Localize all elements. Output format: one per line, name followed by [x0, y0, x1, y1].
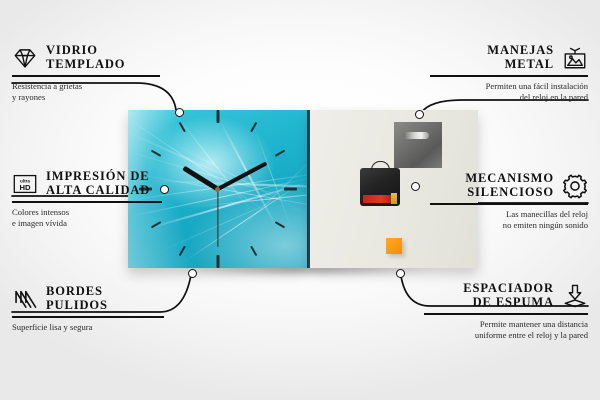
feature-manejas-metal: MANEJAS METAL Permiten una fácil instala…	[430, 44, 588, 103]
connector-dot-espaciador	[396, 269, 405, 278]
feature-subtitle: Permiten una fácil instalación del reloj…	[430, 81, 588, 103]
clock-tick	[150, 150, 161, 157]
hand-cap	[215, 187, 220, 192]
clock-tick	[274, 150, 285, 157]
second-hand	[217, 189, 218, 247]
clock-tick	[274, 221, 285, 228]
divider	[12, 75, 160, 77]
clock-tick	[178, 122, 185, 133]
feature-subtitle: Permite mantener una distancia uniforme …	[424, 319, 588, 341]
feature-title: MECANISMO SILENCIOSO	[465, 172, 554, 199]
divider	[12, 201, 162, 203]
foam-spacer	[386, 238, 402, 254]
connector-dot-manejas	[415, 110, 424, 119]
hanger-loop	[371, 161, 390, 171]
connector-dot-mecanismo	[411, 182, 420, 191]
feature-title: BORDES PULIDOS	[46, 285, 108, 312]
quartz-mechanism	[360, 168, 400, 206]
clock-tick	[216, 110, 219, 123]
feature-vidrio-templado: VIDRIO TEMPLADO Resistencia a grietas y …	[12, 44, 160, 103]
metal-hanger-plate	[394, 122, 442, 168]
clock-tick	[250, 122, 257, 133]
diamond-icon	[12, 45, 38, 71]
feature-subtitle: Las manecillas del reloj no emiten ningú…	[430, 209, 588, 231]
feature-subtitle: Superficie lisa y segura	[12, 322, 164, 333]
clock-tick	[284, 188, 297, 191]
svg-text:HD: HD	[19, 183, 31, 192]
connector-dot-bordes	[188, 269, 197, 278]
divider	[430, 75, 588, 77]
polished-edges-icon	[12, 286, 38, 312]
picture-hanger-icon	[562, 45, 588, 71]
feature-bordes-pulidos: BORDES PULIDOS Superficie lisa y segura	[12, 285, 164, 333]
clock-tick	[216, 255, 219, 268]
connector-dot-vidrio	[175, 108, 184, 117]
divider	[12, 316, 164, 318]
feature-espaciador-espuma: ESPACIADOR DE ESPUMA Permite mantener un…	[424, 282, 588, 341]
ultra-hd-icon: ultra HD	[12, 171, 38, 197]
divider	[430, 203, 588, 205]
feature-title: VIDRIO TEMPLADO	[46, 44, 125, 71]
feature-impresion-alta-calidad: ultra HD IMPRESIÓN DE ALTA CALIDAD Color…	[12, 170, 162, 229]
clock-tick	[250, 246, 257, 257]
foam-spacer-icon	[562, 283, 588, 309]
divider	[424, 313, 588, 315]
feature-title: IMPRESIÓN DE ALTA CALIDAD	[46, 170, 150, 197]
feature-subtitle: Resistencia a grietas y rayones	[12, 81, 160, 103]
gear-icon	[562, 173, 588, 199]
infographic-canvas: VIDRIO TEMPLADO Resistencia a grietas y …	[0, 0, 600, 400]
feature-mecanismo-silencioso: MECANISMO SILENCIOSO Las manecillas del …	[430, 172, 588, 231]
feature-title: MANEJAS METAL	[487, 44, 554, 71]
clock-tick	[178, 246, 185, 257]
feature-title: ESPACIADOR DE ESPUMA	[463, 282, 554, 309]
battery	[363, 195, 393, 203]
feature-subtitle: Colores intensos e imagen vívida	[12, 207, 162, 229]
